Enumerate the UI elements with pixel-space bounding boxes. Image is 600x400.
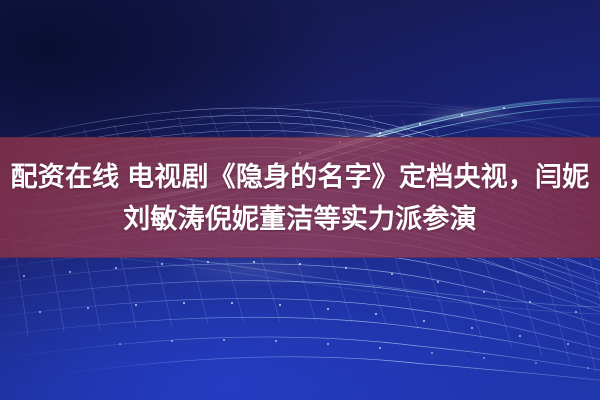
headline-line-1: 配资在线 电视剧《隐身的名字》定档央视，闫妮: [11, 158, 590, 196]
banner-image: 配资在线 电视剧《隐身的名字》定档央视，闫妮 刘敏涛倪妮董洁等实力派参演: [0, 0, 600, 400]
headline-text-block: 配资在线 电视剧《隐身的名字》定档央视，闫妮 刘敏涛倪妮董洁等实力派参演: [0, 137, 600, 258]
headline-line-2: 刘敏涛倪妮董洁等实力派参演: [123, 200, 477, 238]
